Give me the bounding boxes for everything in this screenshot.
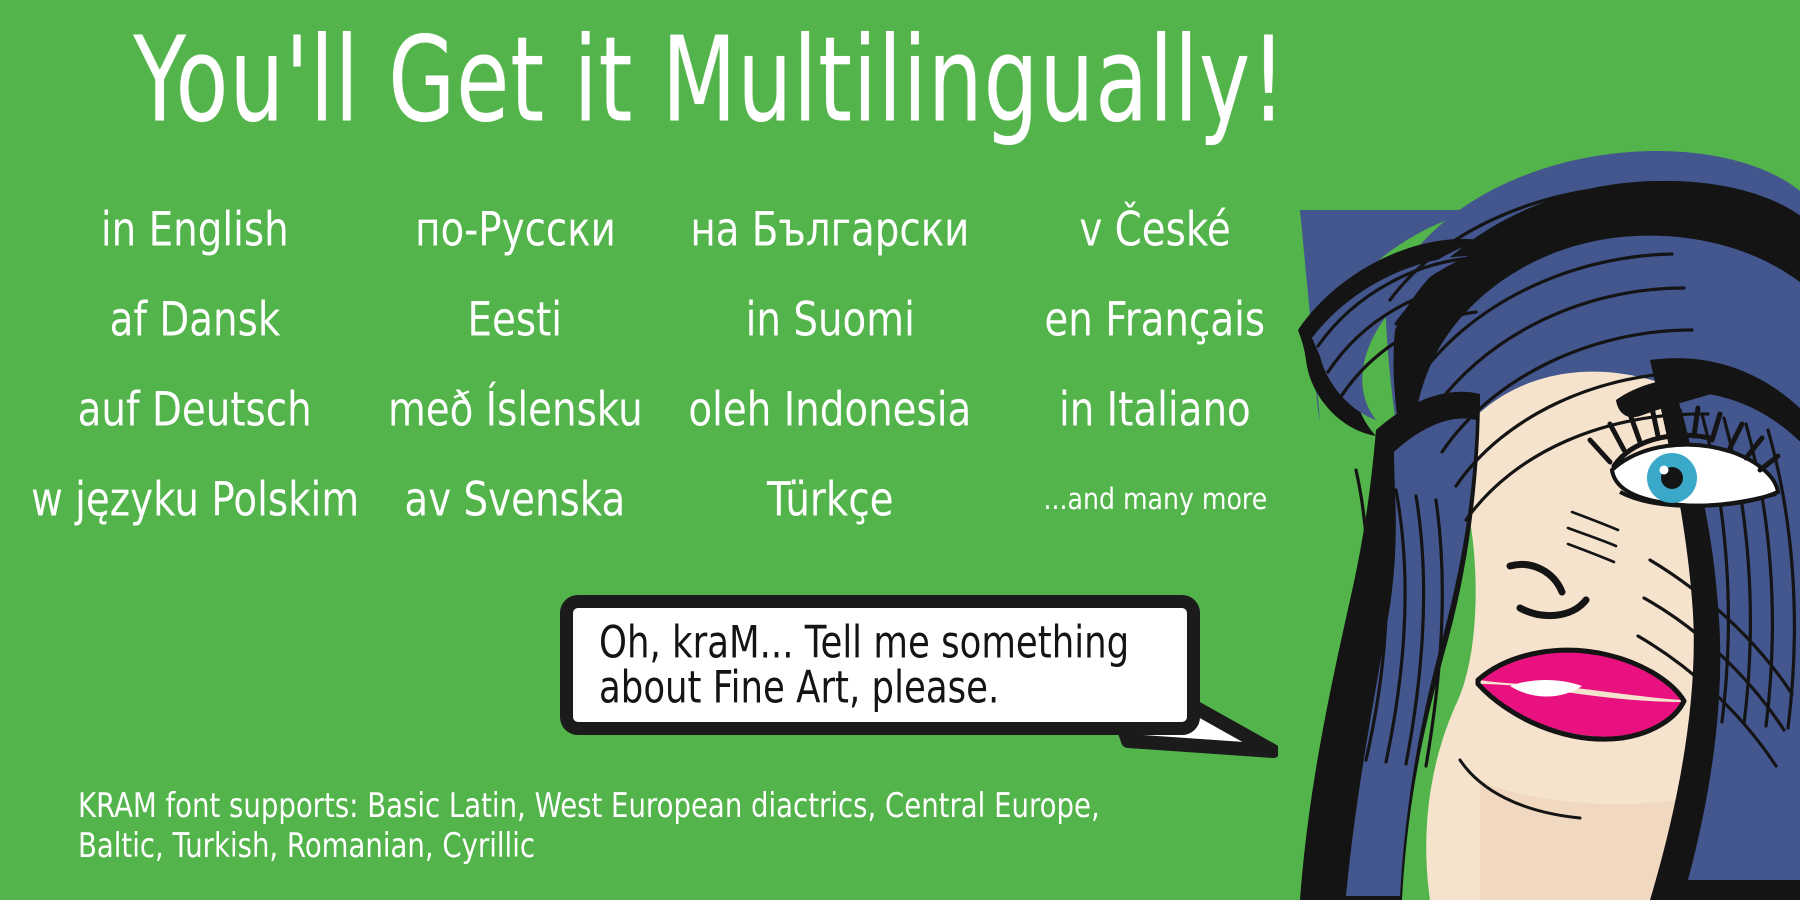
nose-bridge-line <box>1510 564 1562 592</box>
language-item: af Dansk <box>110 296 281 343</box>
language-grid: in English по-Русски на Български v Česk… <box>30 185 1390 545</box>
eye-pupil <box>1661 467 1683 489</box>
language-item: en Français <box>1045 296 1266 343</box>
eyelash-lines <box>1590 406 1778 470</box>
nose-nostril-line <box>1520 600 1586 616</box>
cheek-lines <box>1568 512 1618 562</box>
eye-lower-lid <box>1620 492 1776 506</box>
language-item: in English <box>101 206 289 253</box>
hair-swoop-shape <box>1385 151 1800 560</box>
language-item-more: ...and many more <box>1043 485 1267 514</box>
lower-lip-shape <box>1480 684 1682 737</box>
speech-bubble-line-2: about Fine Art, please. <box>599 660 1139 714</box>
language-item: Türkçe <box>767 476 894 523</box>
speech-bubble: Oh, kraM... Tell me something about Fine… <box>560 595 1260 760</box>
page-title: You'll Get it Multilingually! <box>43 22 1378 140</box>
hair-right-mass-shape <box>1650 358 1800 900</box>
jaw-line <box>1460 760 1580 818</box>
teeth-shape <box>1510 680 1582 697</box>
eyebrow-shape <box>1616 377 1740 417</box>
eye-iris <box>1647 453 1697 503</box>
speech-bubble-box: Oh, kraM... Tell me something about Fine… <box>560 595 1200 735</box>
footer-line-2: Baltic, Turkish, Romanian, Cyrillic <box>78 821 1199 868</box>
language-item: Eesti <box>468 296 563 343</box>
language-item: in Italiano <box>1059 386 1251 433</box>
language-item: w języku Polskim <box>31 476 359 523</box>
neck-shape <box>1480 780 1700 900</box>
hair-black-layer-1 <box>1394 181 1800 485</box>
language-item: на Български <box>690 206 969 253</box>
language-item: með Íslensku <box>388 386 643 433</box>
upper-lip-shape <box>1480 652 1682 700</box>
eye-white-shape <box>1612 445 1778 506</box>
language-item: in Suomi <box>745 296 914 343</box>
language-item: по-Русски <box>415 206 616 253</box>
lips-outline <box>1478 650 1684 739</box>
language-item: av Svenska <box>405 476 626 523</box>
hair-right-mass-highlight <box>1676 392 1800 880</box>
poster-canvas: You'll Get it Multilingually! in English… <box>0 0 1800 900</box>
language-item: v České <box>1079 206 1230 253</box>
eye-highlight <box>1660 466 1669 475</box>
face-shape <box>1426 227 1800 900</box>
footer-note: KRAM font supports: Basic Latin, West Eu… <box>78 785 1258 865</box>
language-item: auf Deutsch <box>78 386 312 433</box>
language-item: oleh Indonesia <box>689 386 972 433</box>
